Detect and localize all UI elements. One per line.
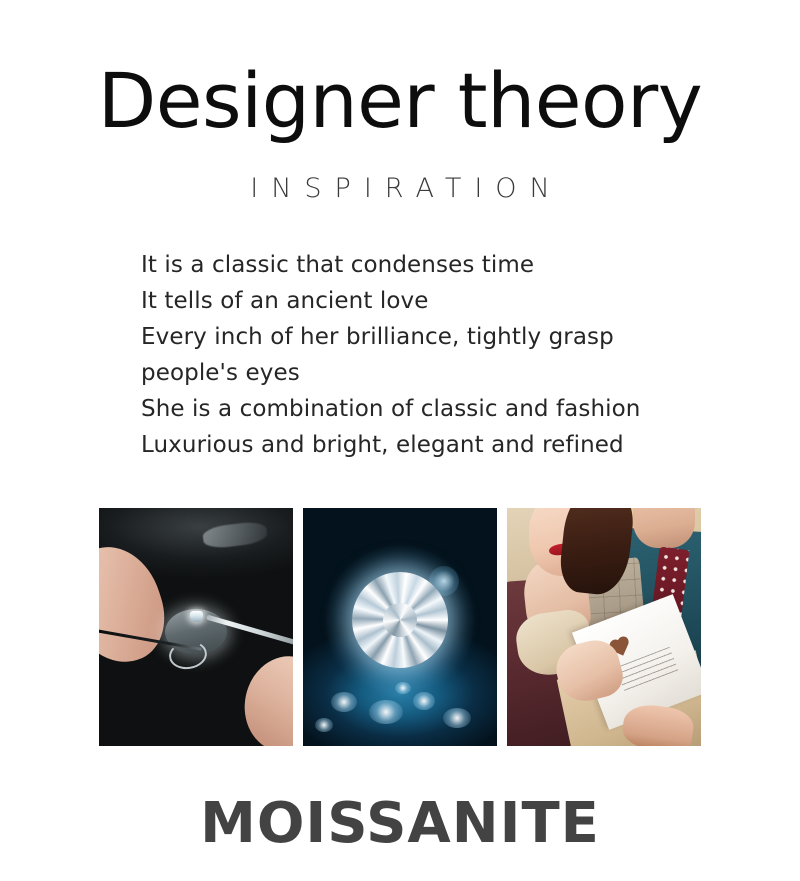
page-title: Designer theory: [0, 58, 800, 144]
photo-jeweler-inspecting-gemstone: [99, 508, 293, 746]
jeweler-left-hand: [99, 535, 177, 676]
photo-brilliant-cut-diamond: [303, 508, 497, 746]
jeweler-right-hand: [236, 649, 293, 746]
brand-wordmark: MOISSANITE: [0, 794, 800, 854]
page-subtitle: INSPIRATION: [0, 172, 800, 206]
instrument-emblem: [202, 520, 268, 550]
description-line: It tells of an ancient love: [141, 283, 701, 319]
description-line: She is a combination of classic and fash…: [141, 391, 701, 427]
bokeh-sparkle: [395, 682, 411, 694]
bokeh-sparkle: [315, 718, 333, 732]
photo-gallery: [99, 508, 701, 746]
description-line: people's eyes: [141, 355, 701, 391]
card-text-lines: [615, 647, 678, 692]
description-line: Every inch of her brilliance, tightly gr…: [141, 319, 701, 355]
description-line: Luxurious and bright, elegant and refine…: [141, 427, 701, 463]
bokeh-sparkle: [443, 708, 471, 728]
description-line: It is a classic that condenses time: [141, 247, 701, 283]
bokeh-sparkle: [331, 692, 357, 712]
bokeh-sparkle: [413, 692, 435, 710]
promo-banner: Designer theory INSPIRATION It is a clas…: [0, 0, 800, 881]
description-text: It is a classic that condenses time It t…: [141, 247, 701, 463]
bokeh-sparkle: [369, 700, 403, 724]
man-head: [633, 508, 695, 548]
diamond: [352, 572, 448, 668]
photo-couple-reading-card: [507, 508, 701, 746]
